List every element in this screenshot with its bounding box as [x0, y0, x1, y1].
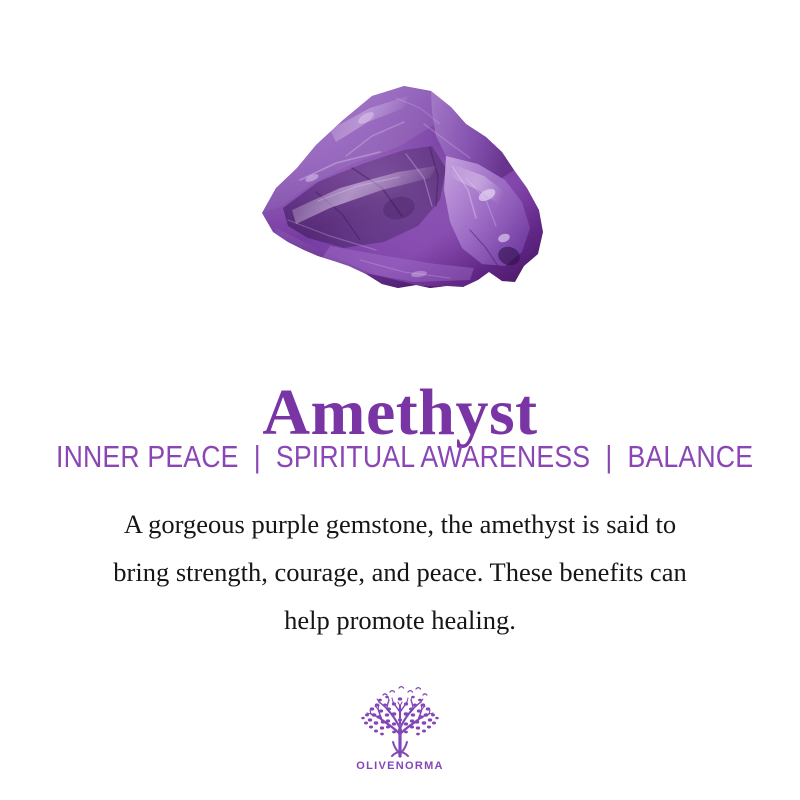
brand-logo: OLIVENORMA	[0, 684, 800, 772]
brand-name: OLIVENORMA	[0, 760, 800, 772]
tree-of-life-icon	[354, 684, 446, 758]
stone-body	[250, 80, 560, 300]
keyword-list: INNER PEACE | SPIRITUAL AWARENESS | BALA…	[56, 440, 744, 474]
amethyst-stone-image	[0, 60, 800, 305]
description-line: A gorgeous purple gemstone, the amethyst…	[40, 500, 760, 548]
keyword-spiritual-awareness: SPIRITUAL AWARENESS	[276, 439, 590, 474]
description-text: A gorgeous purple gemstone, the amethyst…	[40, 500, 760, 644]
description-line: bring strength, courage, and peace. Thes…	[40, 548, 760, 596]
keyword-inner-peace: INNER PEACE	[56, 439, 239, 474]
keyword-separator: |	[598, 440, 620, 474]
page-title: Amethyst	[0, 380, 800, 446]
description-line: help promote healing.	[40, 596, 760, 644]
keyword-separator: |	[246, 440, 268, 474]
keyword-balance: BALANCE	[628, 439, 754, 474]
amethyst-info-card: Amethyst INNER PEACE | SPIRITUAL AWARENE…	[0, 0, 800, 800]
